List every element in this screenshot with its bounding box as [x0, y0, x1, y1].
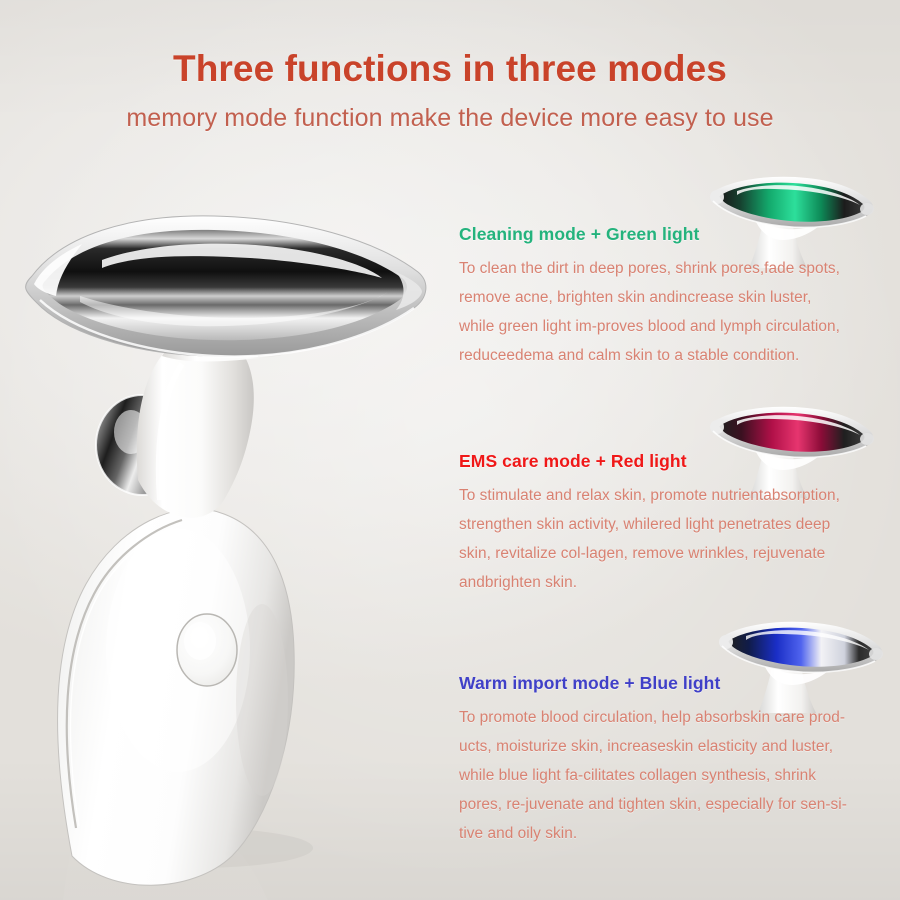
mode-body-blue: To promote blood circulation, help absor…	[459, 703, 891, 848]
mode-body-line: andbrighten skin.	[459, 568, 891, 597]
mode-body-line: To clean the dirt in deep pores, shrink …	[459, 254, 891, 283]
mode-body-line: remove acne, brighten skin andincrease s…	[459, 283, 891, 312]
mode-body-line: To stimulate and relax skin, promote nut…	[459, 481, 891, 510]
main-product-image	[10, 180, 440, 900]
mode-block-green: Cleaning mode + Green light To clean the…	[459, 224, 891, 370]
infographic-page: Three functions in three modes memory mo…	[0, 0, 900, 900]
mode-heading-green: Cleaning mode + Green light	[459, 224, 891, 245]
mode-heading-blue: Warm import mode + Blue light	[459, 673, 891, 694]
mode-body-line: skin, revitalize col-lagen, remove wrink…	[459, 539, 891, 568]
mode-body-line: while green light im-proves blood and ly…	[459, 312, 891, 341]
mode-body-line: while blue light fa-cilitates collagen s…	[459, 761, 891, 790]
mode-body-line: tive and oily skin.	[459, 819, 891, 848]
mode-body-line: To promote blood circulation, help absor…	[459, 703, 891, 732]
mode-body-line: ucts, moisturize skin, increaseskin elas…	[459, 732, 891, 761]
page-subtitle: memory mode function make the device mor…	[0, 104, 900, 133]
mode-body-red: To stimulate and relax skin, promote nut…	[459, 481, 891, 597]
mode-body-green: To clean the dirt in deep pores, shrink …	[459, 254, 891, 370]
mode-body-line: reduceedema and calm skin to a stable co…	[459, 341, 891, 370]
page-title: Three functions in three modes	[0, 48, 900, 90]
power-button-graphic	[177, 614, 237, 686]
mode-block-blue: Warm import mode + Blue light To promote…	[459, 673, 891, 848]
mode-heading-red: EMS care mode + Red light	[459, 451, 891, 472]
mode-body-line: strengthen skin activity, whilered light…	[459, 510, 891, 539]
mode-body-line: pores, re-juvenate and tighten skin, esp…	[459, 790, 891, 819]
mode-block-red: EMS care mode + Red light To stimulate a…	[459, 451, 891, 597]
